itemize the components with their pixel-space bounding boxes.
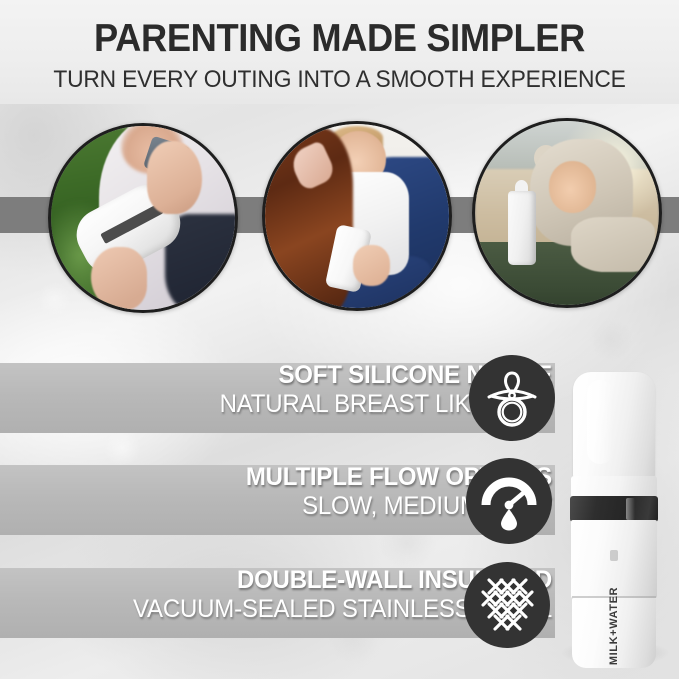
adult-hand-upper	[147, 141, 202, 215]
bottle-band-highlight	[626, 498, 635, 520]
bottle-in-photo	[508, 191, 536, 265]
photo-gallery	[0, 118, 679, 308]
baby-hand	[353, 245, 390, 285]
bottle-cap	[573, 372, 655, 478]
toddler-face	[549, 161, 597, 213]
bottle-embossed-mark	[610, 550, 618, 561]
nipple-icon	[469, 355, 555, 441]
product-bottle: MILK+WATER	[570, 372, 658, 670]
photo-baby-feeding-outdoors	[48, 123, 238, 313]
header: PARENTING MADE SIMPLER TURN EVERY OUTING…	[0, 0, 679, 104]
product-infographic: PARENTING MADE SIMPLER TURN EVERY OUTING…	[0, 0, 679, 679]
photo-mother-and-baby	[262, 121, 452, 311]
adult-hand-lower	[91, 247, 146, 310]
toddler-arm	[571, 217, 656, 272]
bottle-dark-band	[570, 496, 658, 522]
page-subtitle: TURN EVERY OUTING INTO A SMOOTH EXPERIEN…	[17, 61, 662, 94]
flow-gauge-icon	[466, 458, 552, 544]
crosshatch-weave-icon	[464, 562, 550, 648]
feature-row-soft-silicone-nipple: SOFT SILICONE NIPPLE NATURAL BREAST LIKE…	[0, 361, 560, 435]
bottle-cap-highlight	[587, 380, 613, 464]
bottle-label-text: MILK+WATER	[608, 587, 620, 665]
bottle-collar	[571, 476, 657, 498]
feature-row-double-wall-insulated: DOUBLE-WALL INSULATED VACUUM-SEALED STAI…	[0, 566, 560, 640]
page-title: PARENTING MADE SIMPLER	[24, 0, 655, 61]
photo-toddler-at-table	[472, 118, 662, 308]
feature-row-multiple-flow-options: MULTIPLE FLOW OPTIONS SLOW, MEDIUM, FAST	[0, 463, 560, 537]
